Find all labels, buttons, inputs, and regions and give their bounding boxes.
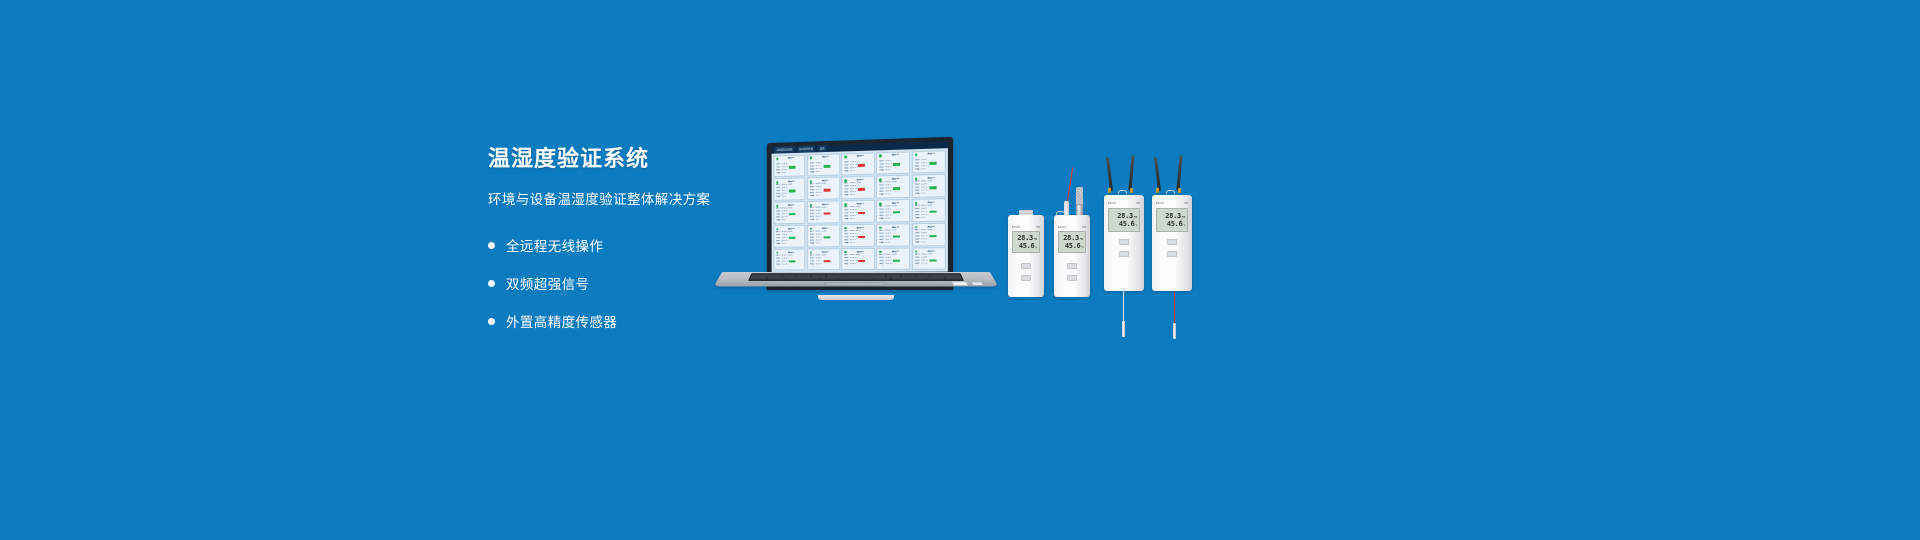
status-dot-icon — [844, 251, 847, 254]
device-card-field-key: 电量: — [776, 172, 781, 175]
device-card-field-value: 94 % — [815, 171, 820, 174]
device-button-primary[interactable] — [1021, 263, 1031, 269]
device-card-field-key: 电量: — [810, 242, 815, 245]
device-button-primary[interactable] — [1167, 239, 1177, 245]
device-button-primary[interactable] — [1119, 239, 1129, 245]
bullet-dot-icon — [488, 242, 495, 249]
device-button-secondary[interactable] — [1021, 275, 1031, 281]
lcd-temperature-value: 28.3 — [1117, 212, 1133, 220]
device-card-battery: 电量:96 % — [810, 218, 837, 221]
device-card[interactable]: 测点15编号:WSD-T1015状态:记录中温度:28.5 ℃湿度:45.1 %… — [912, 199, 947, 222]
device-card-battery: 电量:99 % — [915, 216, 943, 219]
laptop-sticker-secondary — [972, 282, 983, 285]
device-card-field-key: 电量: — [879, 217, 884, 220]
antenna-right-icon — [1176, 155, 1182, 191]
device-card[interactable]: 测点21编号:WSD-T1021状态:记录中温度:28.4 ℃湿度:45.2 %… — [773, 249, 805, 271]
device-card-field-value: 97 % — [885, 193, 890, 196]
status-dot-icon — [810, 157, 813, 160]
device-lcd-display: 28.3 ℃ 45.6 % — [1108, 208, 1140, 232]
status-dot-icon — [776, 181, 778, 184]
feature-label: 双频超强信号 — [506, 273, 589, 293]
status-dot-icon — [879, 251, 882, 254]
status-dot-icon — [915, 226, 918, 229]
lcd-humidity-value: 45.6 — [1119, 220, 1135, 228]
device-card-battery: 电量:90 % — [776, 242, 803, 245]
sensor-cable-end-icon — [1173, 323, 1176, 339]
device-card[interactable]: 测点22编号:WSD-T1022状态:记录中温度:27.8 ℃湿度:46.5 %… — [807, 248, 840, 270]
lcd-humidity-unit: % — [1035, 245, 1037, 249]
status-dot-icon — [879, 203, 882, 206]
device-card-field-key: 电量: — [915, 265, 920, 267]
device-card-field-value: 98 % — [921, 265, 926, 267]
status-dot-icon — [810, 204, 813, 207]
device-brand-labels: ENON HB — [1012, 226, 1040, 229]
device-card-battery: 电量:90 % — [810, 194, 837, 197]
lcd-humidity-unit: % — [1081, 245, 1083, 249]
status-dot-icon — [915, 250, 918, 253]
brand-label-right: HB — [1036, 226, 1040, 229]
hanging-hook-icon — [1166, 190, 1175, 194]
device-card-field-key: 电量: — [915, 168, 920, 171]
status-dot-icon — [915, 202, 918, 205]
device-card[interactable]: 测点07编号:WSD-T1007状态:记录中温度:27.7 ℃湿度:46.4 %… — [807, 177, 840, 200]
brand-label-right: HB — [1136, 202, 1140, 205]
device-card-field-value: 93 % — [781, 195, 786, 198]
lcd-humidity-line: 45.6 % — [1015, 242, 1037, 250]
device-card[interactable]: 测点09编号:WSD-T1009状态:记录中温度:28.6 ℃湿度:45.0 %… — [876, 175, 910, 198]
device-card-field-value: 92 % — [921, 241, 926, 244]
device-card[interactable]: 测点11编号:WSD-T1011状态:记录中温度:28.1 ℃湿度:45.3 %… — [773, 201, 805, 224]
device-card[interactable]: 测点19编号:WSD-T1019状态:记录中温度:28.6 ℃湿度:45.4 %… — [876, 223, 910, 246]
device-card-field-value: 89 % — [921, 168, 926, 171]
device-card-battery: 电量:94 % — [844, 266, 872, 268]
status-dot-icon — [776, 158, 778, 161]
sensor-cable-end-icon — [1122, 321, 1125, 337]
device-card-field-value: 91 % — [885, 265, 890, 267]
device-card-field-value: 94 % — [885, 217, 890, 220]
antenna-connector-left-icon — [1108, 188, 1111, 193]
device-card-field-key: 电量: — [879, 169, 884, 172]
device-card-field-key: 电量: — [776, 219, 781, 222]
lcd-humidity-unit: % — [1183, 223, 1185, 227]
device-card[interactable]: 测点03编号:WSD-T1003状态:记录中温度:28.1 ℃湿度:44.8 %… — [841, 152, 874, 175]
brand-label-right: HB — [1082, 226, 1086, 229]
status-dot-icon — [810, 180, 813, 183]
lcd-humidity-value: 45.6 — [1065, 242, 1081, 250]
status-dot-icon — [844, 227, 847, 230]
laptop-deck — [714, 272, 998, 286]
device-card-field-value: 92 % — [921, 192, 926, 195]
device-card-battery: 电量:96 % — [776, 266, 803, 268]
device-product-images: ENON HB 28.3 ℃ 45.6 % — [1000, 175, 1220, 335]
device-button-secondary[interactable] — [1119, 251, 1129, 257]
device-card-field-value: 96 % — [815, 218, 820, 221]
device-card-battery: 电量:93 % — [776, 195, 803, 198]
device-card-field-key: 电量: — [810, 266, 815, 268]
device-card[interactable]: 测点13编号:WSD-T1013状态:记录中温度:28.4 ℃湿度:44.9 %… — [841, 200, 874, 223]
device-card-battery: 电量:91 % — [844, 218, 872, 221]
bullet-dot-icon — [488, 280, 495, 287]
device-card-field-value: 90 % — [815, 195, 820, 198]
device-card-field-key: 电量: — [915, 217, 920, 220]
device-card-battery: 电量:92 % — [915, 192, 943, 195]
device-card-field-value: 95 % — [885, 241, 890, 244]
key-row — [749, 279, 963, 280]
laptop-sticker — [952, 282, 968, 286]
lcd-temperature-line: 28.3 ℃ — [1159, 212, 1185, 220]
lcd-temperature-value: 28.3 — [1017, 234, 1033, 242]
device-card[interactable]: 测点04编号:WSD-T1004状态:记录中温度:28.5 ℃湿度:45.2 %… — [876, 151, 910, 175]
device-card-field-key: 电量: — [776, 266, 781, 268]
status-dot-icon — [844, 203, 847, 206]
status-dot-icon — [844, 156, 847, 159]
device-card-field-value: 99 % — [921, 217, 926, 220]
device-logger-large-right: ENON HB 28.3 ℃ 45.6 % — [1152, 195, 1192, 291]
device-card[interactable]: 测点17编号:WSD-T1017状态:记录中温度:27.9 ℃湿度:46.2 %… — [807, 224, 840, 247]
antenna-connector-right-icon — [1130, 188, 1133, 193]
device-card-field-key: 电量: — [879, 241, 884, 244]
lcd-temperature-line: 28.3 ℃ — [1015, 234, 1037, 242]
device-card-battery: 电量:96 % — [776, 172, 803, 175]
device-brand-labels: ENON HB — [1108, 202, 1140, 205]
device-card[interactable]: 测点23编号:WSD-T1023状态:记录中温度:28.2 ℃湿度:44.5 %… — [841, 248, 874, 271]
status-dot-icon — [776, 228, 778, 231]
device-card[interactable]: 测点05编号:WSD-T1005状态:记录中温度:28.0 ℃湿度:45.9 %… — [912, 150, 947, 174]
device-card-battery: 电量:89 % — [915, 168, 943, 171]
status-dot-icon — [915, 178, 918, 181]
device-card[interactable]: 测点24编号:WSD-T1024状态:记录中温度:28.5 ℃湿度:45.0 %… — [876, 248, 910, 271]
device-card-field-value: 95 % — [850, 194, 855, 197]
device-lcd-display: 28.3 ℃ 45.6 % — [1156, 208, 1188, 232]
device-card[interactable]: 测点01编号:WSD-T1001状态:记录中温度:28.3 ℃湿度:45.6 %… — [773, 154, 805, 177]
lcd-humidity-value: 45.6 — [1167, 220, 1183, 228]
laptop-front-lip — [818, 295, 894, 300]
laptop-keyboard[interactable] — [748, 273, 964, 281]
bullet-dot-icon — [488, 318, 495, 325]
device-card-field-key: 电量: — [810, 218, 815, 221]
lcd-temperature-value: 28.3 — [1063, 234, 1079, 242]
device-card-field-value: 94 % — [850, 266, 855, 268]
device-body: ENON HB 28.3 ℃ 45.6 % — [1152, 195, 1192, 291]
device-card[interactable]: 测点08编号:WSD-T1008状态:记录中温度:28.2 ℃湿度:44.6 %… — [841, 176, 874, 199]
device-card[interactable]: 测点02编号:WSD-T1002状态:记录中温度:27.9 ℃湿度:46.1 %… — [807, 153, 840, 176]
device-card-field-key: 电量: — [810, 195, 815, 198]
status-dot-icon — [879, 178, 882, 181]
laptop-base — [722, 272, 990, 300]
hanging-hook-icon — [1118, 190, 1127, 194]
laptop-screen: 温湿度验证系统 实时监控界面 设置 测点01编号:WSD-T1001状态:记录中… — [772, 141, 948, 281]
device-card-battery: 电量:95 % — [879, 241, 907, 244]
device-card-field-value: 89 % — [815, 266, 820, 268]
device-card-field-key: 电量: — [776, 242, 781, 245]
device-lcd-display: 28.3 ℃ 45.6 % — [1012, 231, 1040, 253]
lcd-temperature-line: 28.3 ℃ — [1111, 212, 1137, 220]
device-card-field-value: 90 % — [781, 242, 786, 245]
device-card[interactable]: 测点25编号:WSD-T1025状态:记录中温度:28.0 ℃湿度:45.7 %… — [912, 247, 947, 270]
device-card-battery: 电量:94 % — [810, 171, 837, 174]
device-card-field-key: 电量: — [844, 242, 849, 245]
device-brand-labels: ENON HB — [1156, 202, 1188, 205]
lcd-temperature-value: 28.3 — [1165, 212, 1181, 220]
feature-label: 全远程无线操作 — [506, 235, 603, 255]
device-card-field-key: 电量: — [915, 192, 920, 195]
device-card-field-value: 96 % — [781, 172, 786, 175]
device-card-field-key: 电量: — [844, 218, 849, 221]
device-body: ENON HB 28.3 ℃ 45.6 % — [1008, 215, 1044, 297]
antenna-right-icon — [1128, 155, 1134, 191]
device-card-field-value: 91 % — [850, 170, 855, 173]
brand-label-left: ENON — [1058, 226, 1066, 229]
device-body: ENON HB 28.3 ℃ 45.6 % — [1054, 215, 1090, 297]
lcd-humidity-line: 45.6 % — [1159, 220, 1185, 228]
laptop-lid: 温湿度验证系统 实时监控界面 设置 测点01编号:WSD-T1001状态:记录中… — [767, 137, 953, 290]
device-button-secondary[interactable] — [1067, 275, 1077, 281]
device-card-battery: 电量:97 % — [879, 193, 907, 196]
device-lcd-display: 28.3 ℃ 45.6 % — [1058, 231, 1086, 253]
device-card-field-value: 98 % — [885, 169, 890, 172]
brand-label-right: HB — [1184, 202, 1188, 205]
probe-sensor-mesh-icon — [1076, 187, 1083, 205]
device-card-field-value: 93 % — [815, 242, 820, 245]
device-card[interactable]: 测点14编号:WSD-T1014状态:记录中温度:28.0 ℃湿度:45.6 %… — [876, 199, 910, 222]
lcd-temperature-unit: ℃ — [1080, 237, 1083, 241]
device-logger-small-right: ENON HB 28.3 ℃ 45.6 % — [1054, 215, 1090, 297]
device-logger-large-left: ENON HB 28.3 ℃ 45.6 % — [1104, 195, 1144, 291]
status-dot-icon — [776, 205, 778, 208]
lcd-temperature-unit: ℃ — [1134, 215, 1137, 219]
device-card-field-key: 电量: — [844, 194, 849, 197]
status-dot-icon — [879, 227, 882, 230]
device-card-grid: 测点01编号:WSD-T1001状态:记录中温度:28.3 ℃湿度:45.6 %… — [772, 148, 948, 272]
device-card-battery: 电量:98 % — [915, 265, 943, 267]
lcd-humidity-line: 45.6 % — [1061, 242, 1083, 250]
antenna-left-icon — [1106, 157, 1113, 191]
antenna-left-icon — [1154, 157, 1161, 191]
lcd-humidity-line: 45.6 % — [1111, 220, 1137, 228]
lcd-humidity-unit: % — [1135, 223, 1137, 227]
device-card-field-key: 电量: — [844, 266, 849, 268]
device-card-field-key: 电量: — [810, 171, 815, 174]
device-card-field-value: 91 % — [850, 218, 855, 221]
device-card-field-key: 电量: — [879, 265, 884, 267]
device-card-battery: 电量:91 % — [844, 170, 872, 173]
antenna-connector-right-icon — [1178, 188, 1181, 193]
sensor-cable-icon — [1123, 291, 1124, 325]
device-card-battery: 电量:94 % — [879, 217, 907, 220]
device-body: ENON HB 28.3 ℃ 45.6 % — [1104, 195, 1144, 291]
lcd-temperature-line: 28.3 ℃ — [1061, 234, 1083, 242]
device-card-battery: 电量:91 % — [879, 265, 907, 267]
device-card-battery: 电量:89 % — [810, 266, 837, 268]
brand-label-left: ENON — [1156, 202, 1164, 205]
brand-label-left: ENON — [1012, 226, 1020, 229]
device-card[interactable]: 测点18编号:WSD-T1018状态:记录中温度:28.3 ℃湿度:44.7 %… — [841, 224, 874, 247]
device-card-battery: 电量:95 % — [844, 194, 872, 197]
device-card-battery: 电量:88 % — [776, 219, 803, 222]
device-card-field-key: 电量: — [879, 193, 884, 196]
feature-label: 外置高精度传感器 — [506, 311, 617, 331]
device-button-primary[interactable] — [1067, 263, 1077, 269]
device-card[interactable]: 测点10编号:WSD-T1010状态:记录中温度:28.3 ℃湿度:45.7 %… — [912, 174, 947, 198]
status-dot-icon — [915, 153, 918, 156]
device-card-field-value: 87 % — [850, 242, 855, 245]
device-card-battery: 电量:92 % — [915, 241, 943, 244]
device-brand-labels: ENON HB — [1058, 226, 1086, 229]
status-dot-icon — [810, 228, 813, 231]
device-card-battery: 电量:93 % — [810, 242, 837, 245]
device-logger-small-left: ENON HB 28.3 ℃ 45.6 % — [1008, 215, 1044, 297]
device-card[interactable]: 测点12编号:WSD-T1012状态:记录中温度:27.8 ℃湿度:46.0 %… — [807, 201, 840, 224]
list-item: 外置高精度传感器 — [488, 308, 788, 334]
device-card[interactable]: 测点16编号:WSD-T1016状态:记录中温度:28.2 ℃湿度:45.8 %… — [773, 225, 805, 247]
device-card-field-value: 96 % — [781, 266, 786, 268]
laptop-trackpad[interactable] — [824, 282, 885, 285]
device-card-battery: 电量:87 % — [844, 242, 872, 245]
laptop-product-image: 温湿度验证系统 实时监控界面 设置 测点01编号:WSD-T1001状态:记录中… — [722, 140, 990, 300]
status-dot-icon — [844, 179, 847, 182]
lcd-temperature-unit: ℃ — [1182, 215, 1185, 219]
device-card[interactable]: 测点20编号:WSD-T1020状态:记录中温度:28.1 ℃湿度:45.9 %… — [912, 223, 947, 246]
device-button-secondary[interactable] — [1167, 251, 1177, 257]
device-card-battery: 电量:98 % — [879, 169, 907, 172]
status-dot-icon — [879, 154, 882, 157]
promo-banner: 温湿度验证系统 环境与设备温湿度验证整体解决方案 全远程无线操作 双频超强信号 … — [0, 0, 1920, 540]
sensor-cable-red-icon — [1174, 291, 1175, 327]
device-card-field-key: 电量: — [915, 241, 920, 244]
status-dot-icon — [810, 251, 813, 254]
device-card-field-value: 88 % — [781, 219, 786, 222]
lcd-temperature-unit: ℃ — [1034, 237, 1037, 241]
brand-label-left: ENON — [1108, 202, 1116, 205]
status-dot-icon — [776, 252, 778, 255]
device-card-field-key: 电量: — [844, 170, 849, 173]
antenna-connector-left-icon — [1156, 188, 1159, 193]
device-card[interactable]: 测点06编号:WSD-T1006状态:记录中温度:28.4 ℃湿度:45.5 %… — [773, 178, 805, 201]
lcd-humidity-value: 45.6 — [1019, 242, 1035, 250]
device-card-field-key: 电量: — [776, 195, 781, 198]
